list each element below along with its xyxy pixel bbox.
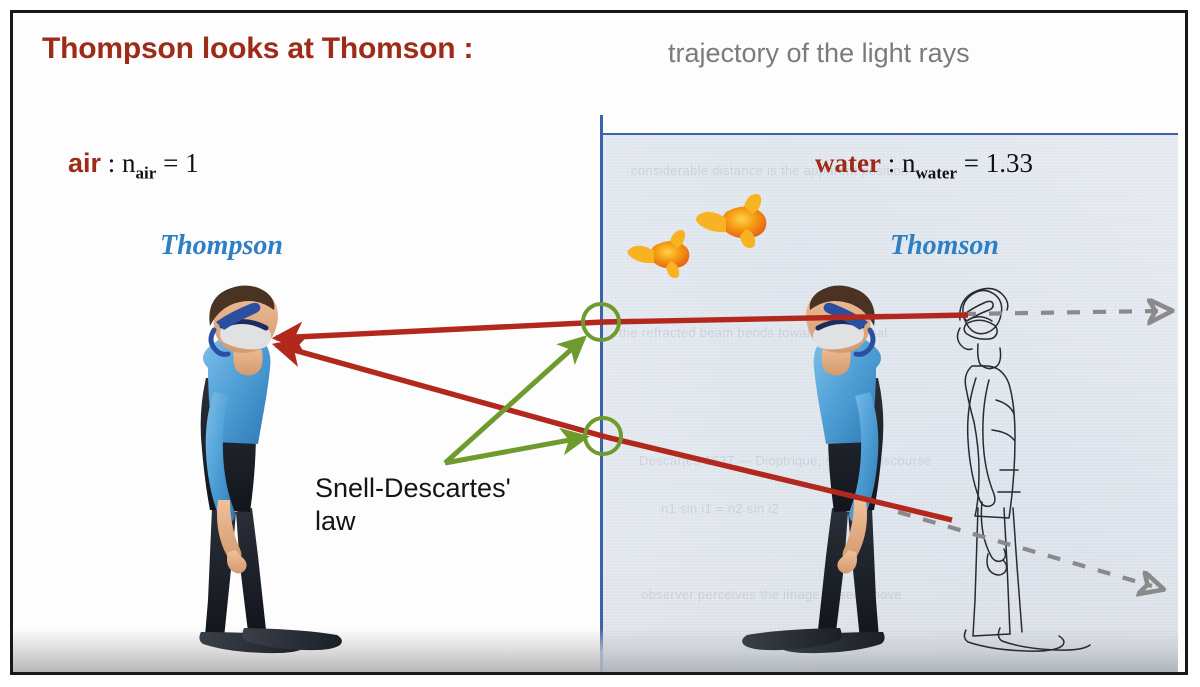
water-index-symbol: n [902, 148, 916, 178]
paper-texture [601, 135, 1178, 672]
air-water-interface-line [600, 115, 603, 672]
air-index-subscript: air [136, 163, 157, 182]
ground-strip-air [13, 628, 601, 672]
air-index-symbol: n [122, 148, 136, 178]
water-medium-name: water [815, 148, 881, 178]
water-index-subscript: water [915, 163, 957, 182]
air-medium-name: air [68, 148, 101, 178]
air-separator: : [101, 148, 122, 178]
ghost-text-line: observer perceives the image raised abov… [641, 587, 902, 602]
water-region: considerable distance is the apparent po… [601, 133, 1178, 672]
page-subtitle: trajectory of the light rays [668, 38, 970, 69]
air-index-label: air : nair = 1 [68, 148, 199, 183]
water-index-label: water : nwater = 1.33 [815, 148, 1033, 183]
water-index-value: 1.33 [986, 148, 1033, 178]
air-index-value: 1 [185, 148, 199, 178]
snell-descartes-law-label: Snell-Descartes' law [315, 472, 511, 538]
air-equals: = [156, 148, 185, 178]
water-separator: : [881, 148, 902, 178]
ground-strip-water [601, 628, 1178, 672]
ghost-text-line: n1 sin i1 = n2 sin i2 [661, 501, 779, 516]
ghost-text-line: Descartes 1637 — Dioptrique, second disc… [639, 453, 931, 468]
water-equals: = [957, 148, 986, 178]
page-title: Thompson looks at Thomson : [42, 32, 473, 66]
slide-canvas: considerable distance is the apparent po… [0, 0, 1200, 687]
label-observer-thompson: Thompson [160, 230, 283, 262]
ghost-text-line: the refracted beam bends toward the norm… [619, 325, 887, 340]
label-target-thomson: Thomson [890, 230, 999, 262]
